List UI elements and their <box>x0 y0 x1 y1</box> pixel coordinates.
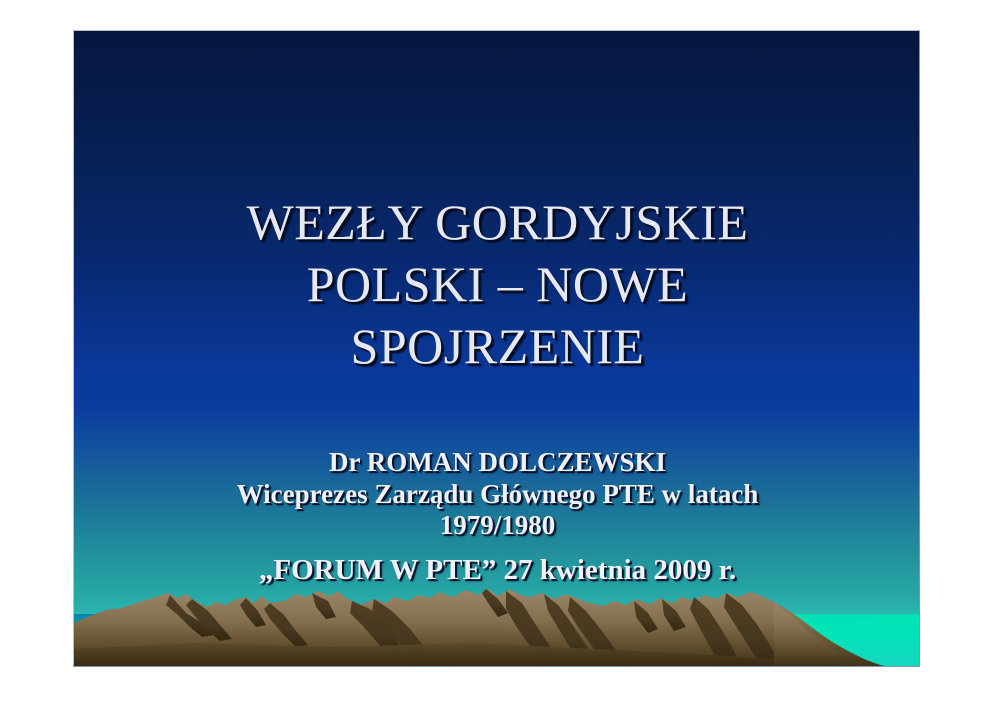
screenshot-canvas: WEZŁY GORDYJSKIE POLSKI – NOWE SPOJRZENI… <box>0 0 992 701</box>
event-label: „FORUM W PTE” 27 kwietnia 2009 r. <box>74 552 920 588</box>
slide-subtitle: Dr ROMAN DOLCZEWSKI Wiceprezes Zarządu G… <box>74 445 920 588</box>
title-line-3: SPOJRZENIE <box>74 315 920 377</box>
presenter-name: Dr ROMAN DOLCZEWSKI <box>74 445 920 479</box>
title-line-2: POLSKI – NOWE <box>74 253 920 315</box>
slide-text-layer: WEZŁY GORDYJSKIE POLSKI – NOWE SPOJRZENI… <box>74 31 919 666</box>
title-line-1: WEZŁY GORDYJSKIE <box>74 191 920 253</box>
presenter-role: Wiceprezes Zarządu Głównego PTE w latach… <box>228 479 768 541</box>
slide-title: WEZŁY GORDYJSKIE POLSKI – NOWE SPOJRZENI… <box>74 191 920 377</box>
presentation-slide: WEZŁY GORDYJSKIE POLSKI – NOWE SPOJRZENI… <box>73 30 920 667</box>
